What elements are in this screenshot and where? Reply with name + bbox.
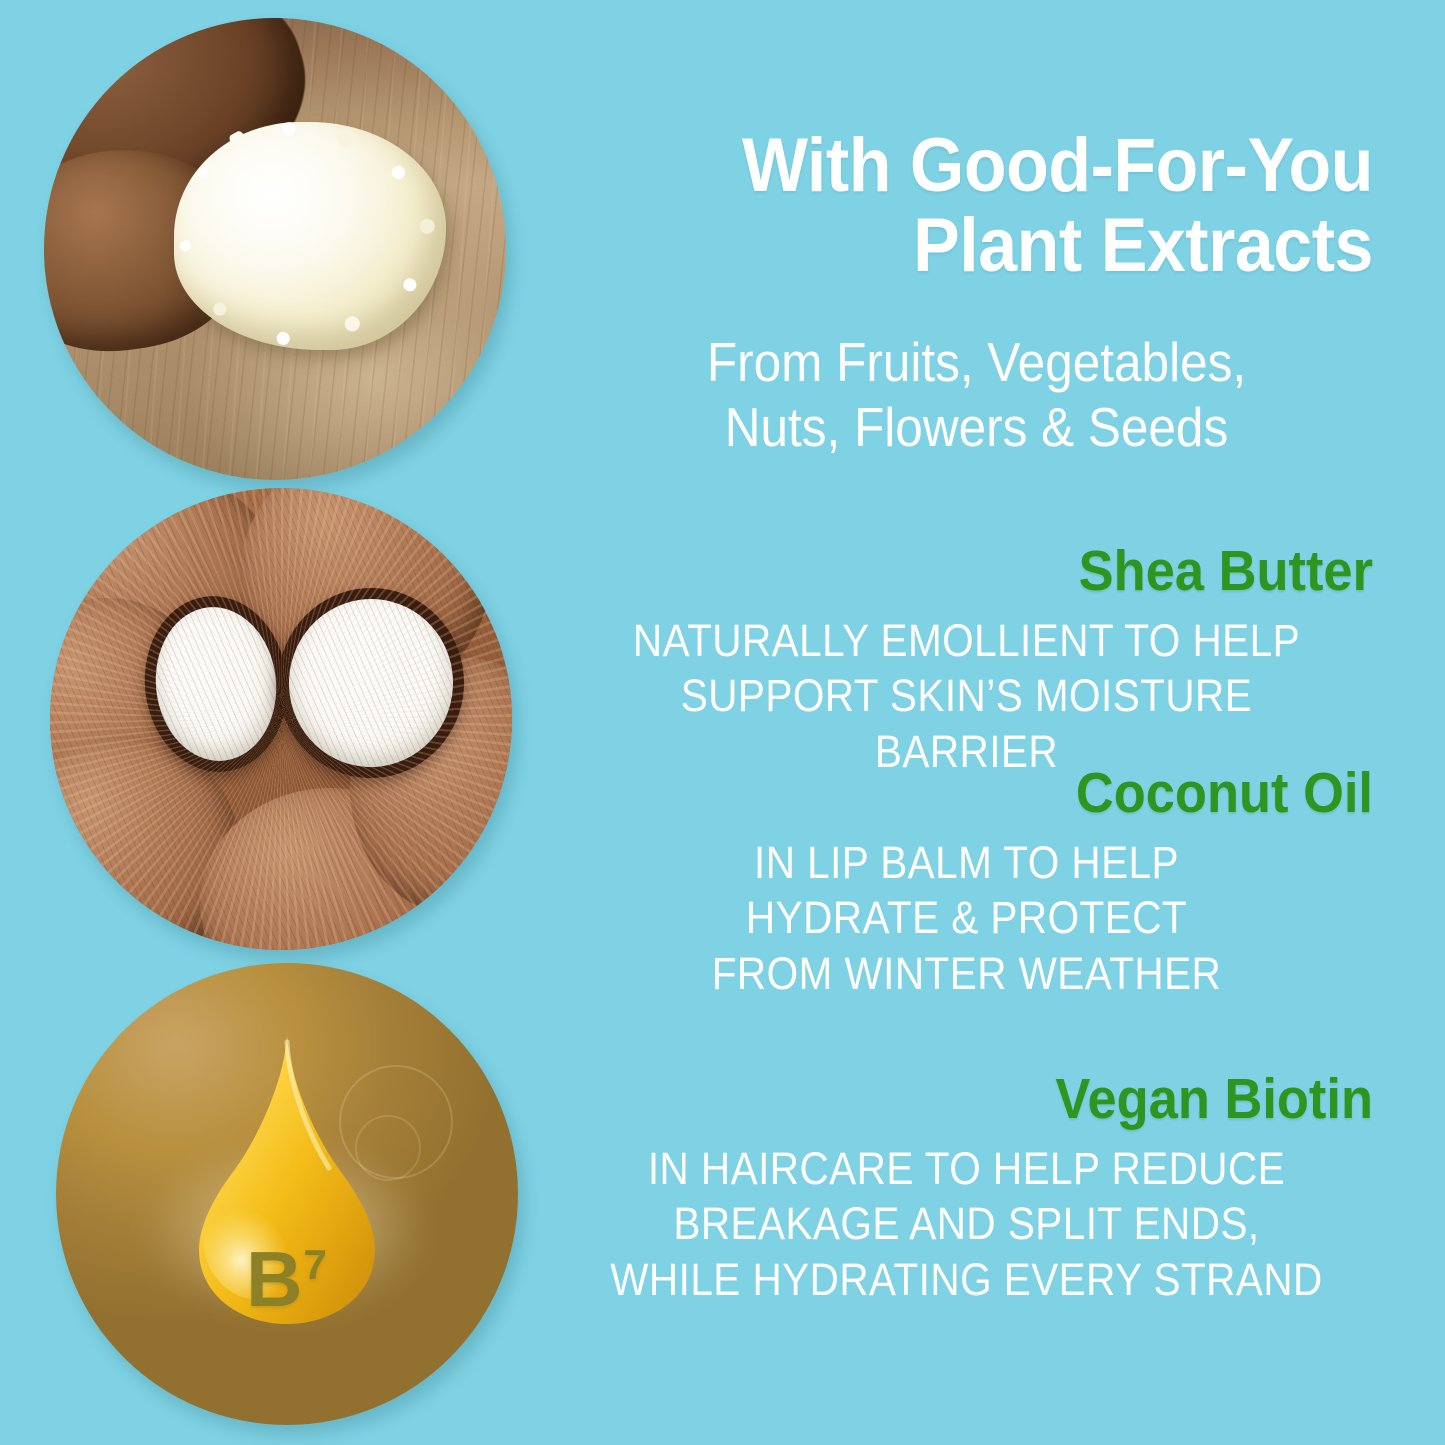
shea-butter-crumbs bbox=[168, 114, 456, 358]
subheadline-line-1: From Fruits, Vegetables, bbox=[620, 330, 1334, 395]
subheadline: From Fruits, Vegetables, Nuts, Flowers &… bbox=[620, 330, 1334, 460]
ingredient-name-shea-butter: Shea Butter bbox=[625, 540, 1373, 603]
ingredient-desc-vegan-biotin: IN HAIRCARE TO HELP REDUCE BREAKAGE AND … bbox=[601, 1141, 1333, 1308]
desc-line: WHILE HYDRATING EVERY STRAND bbox=[601, 1252, 1333, 1308]
headline-line-2: Plant Extracts bbox=[607, 206, 1373, 286]
ingredient-desc-coconut-oil: IN LIP BALM TO HELP HYDRATE & PROTECT FR… bbox=[601, 835, 1333, 1002]
ingredient-shea-butter: Shea Butter NATURALLY EMOLLIENT TO HELP … bbox=[560, 540, 1373, 780]
ingredient-coconut-oil: Coconut Oil IN LIP BALM TO HELP HYDRATE … bbox=[560, 762, 1373, 1002]
photo-column: B7 bbox=[0, 0, 540, 1445]
desc-line: BREAKAGE AND SPLIT ENDS, bbox=[601, 1196, 1333, 1252]
biotin-graphic-scene: B7 bbox=[56, 963, 518, 1425]
shea-butter-photo-scene bbox=[44, 18, 506, 480]
desc-line: IN LIP BALM TO HELP bbox=[601, 835, 1333, 891]
desc-line: FROM WINTER WEATHER bbox=[601, 946, 1333, 1002]
headline-line-1: With Good-For-You bbox=[607, 126, 1373, 206]
coconut-fiber-texture bbox=[50, 488, 512, 950]
coconut-photo-scene bbox=[50, 488, 512, 950]
plant-extracts-infographic: B7 With Good-For-You Plant Extracts From… bbox=[0, 0, 1445, 1445]
ingredient-desc-shea-butter: NATURALLY EMOLLIENT TO HELP SUPPORT SKIN… bbox=[601, 613, 1333, 780]
biotin-droplet-graphic: B7 bbox=[56, 963, 518, 1425]
coconut-photo bbox=[50, 488, 512, 950]
subheadline-line-2: Nuts, Flowers & Seeds bbox=[620, 395, 1334, 460]
shea-butter-photo bbox=[44, 18, 506, 480]
oil-droplet-icon: B7 bbox=[189, 1032, 385, 1332]
ingredient-vegan-biotin: Vegan Biotin IN HAIRCARE TO HELP REDUCE … bbox=[560, 1068, 1373, 1308]
droplet-superscript: 7 bbox=[303, 1241, 327, 1288]
ingredient-name-coconut-oil: Coconut Oil bbox=[625, 762, 1373, 825]
headline: With Good-For-You Plant Extracts bbox=[607, 126, 1373, 286]
text-column: With Good-For-You Plant Extracts From Fr… bbox=[540, 0, 1445, 1445]
desc-line: HYDRATE & PROTECT bbox=[601, 890, 1333, 946]
ingredient-name-vegan-biotin: Vegan Biotin bbox=[625, 1068, 1373, 1131]
droplet-vitamin-label: B7 bbox=[246, 1240, 328, 1318]
desc-line: NATURALLY EMOLLIENT TO HELP bbox=[601, 613, 1333, 669]
desc-line: IN HAIRCARE TO HELP REDUCE bbox=[601, 1141, 1333, 1197]
droplet-letter: B bbox=[246, 1235, 303, 1323]
